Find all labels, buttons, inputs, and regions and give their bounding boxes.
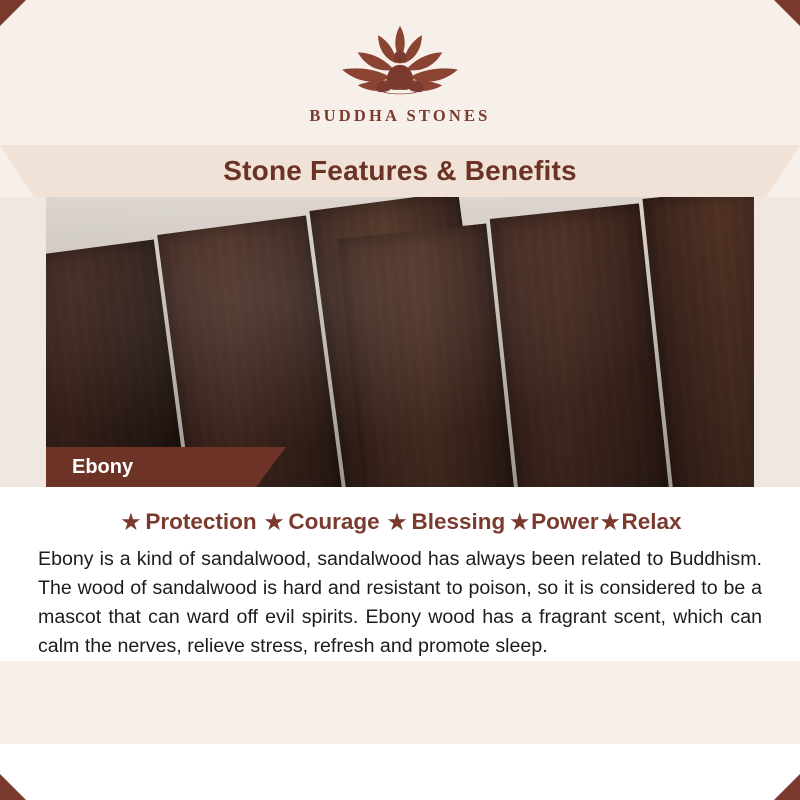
benefit-item: ★ Power	[510, 509, 598, 535]
bottom-fill	[0, 744, 800, 800]
star-icon: ★	[601, 512, 620, 533]
photo-edge-left	[0, 197, 46, 487]
corner-decoration-top-right	[774, 0, 800, 26]
brand-name: BUDDHA STONES	[309, 106, 490, 126]
section-title-band: Stone Features & Benefits	[0, 145, 800, 197]
star-icon: ★	[510, 512, 529, 533]
star-icon: ★	[388, 512, 407, 533]
infographic-card: BUDDHA STONES Stone Features & Benefits	[0, 0, 800, 800]
material-label-bar: Ebony	[0, 447, 800, 487]
benefit-label: Courage	[288, 509, 379, 535]
plank-group-right	[312, 197, 800, 487]
wood-scene	[0, 197, 800, 487]
corner-decoration-bottom-left	[0, 774, 26, 800]
plank	[490, 203, 673, 487]
material-name: Ebony	[72, 456, 133, 479]
lotus-meditation-icon	[320, 18, 480, 104]
benefit-label: Protection	[145, 509, 256, 535]
benefit-item: ★ Courage	[265, 509, 380, 535]
brand-header: BUDDHA STONES	[0, 0, 800, 145]
benefit-item: ★ Relax	[601, 509, 682, 535]
description-text: Ebony is a kind of sandalwood, sandalwoo…	[34, 545, 766, 661]
benefit-label: Blessing	[412, 509, 506, 535]
material-plate-slant	[256, 447, 286, 487]
benefit-item: ★ Protection	[121, 509, 256, 535]
benefits-list: ★ Protection ★ Courage ★ Blessing ★ Powe…	[34, 509, 766, 535]
page-title: Stone Features & Benefits	[0, 145, 800, 197]
material-plate: Ebony	[46, 447, 256, 487]
corner-decoration-top-left	[0, 0, 26, 26]
corner-decoration-bottom-right	[774, 774, 800, 800]
photo-edge-right	[754, 197, 800, 487]
content-section: ★ Protection ★ Courage ★ Blessing ★ Powe…	[0, 487, 800, 661]
benefit-label: Relax	[621, 509, 681, 535]
star-icon: ★	[121, 512, 140, 533]
wood-grain	[490, 203, 673, 487]
star-icon: ★	[265, 512, 284, 533]
benefit-label: Power	[531, 509, 599, 535]
benefit-item: ★ Blessing	[388, 509, 506, 535]
ebony-wood-planks-photo	[0, 197, 800, 487]
